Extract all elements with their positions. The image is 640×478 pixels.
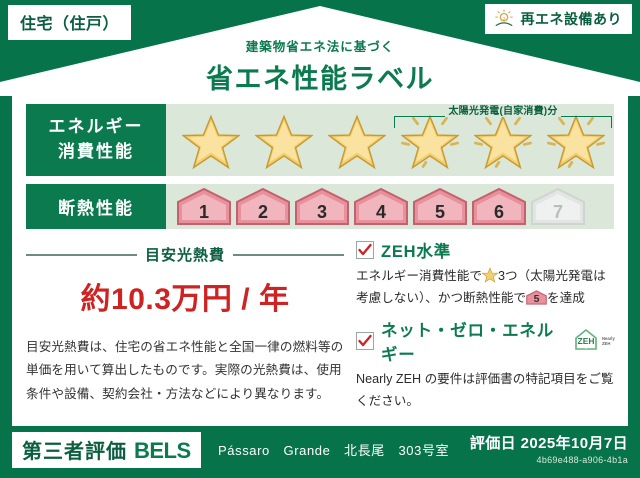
insulation-level-5: 5 (412, 187, 468, 226)
label-header: 住宅（住戸） э 再エネ設備あり 建築物省エネ法に基づく 省エネ性能ラベル (0, 0, 640, 96)
star-icon (176, 110, 246, 172)
insulation-performance-row: 断熱性能 1 2 3 4 (26, 184, 614, 229)
svg-text:ZEH: ZEH (578, 336, 595, 346)
svg-text:э: э (502, 16, 505, 22)
zeh-standard-block: ZEH水準 エネルギー消費性能で3つ（太陽光発電は考慮しない）、かつ断熱性能で5… (356, 238, 618, 309)
sun-icon: э (493, 8, 515, 30)
evaluation-date: 評価日 2025年10月7日 (470, 432, 628, 453)
zeh-standard-header: ZEH水準 (356, 238, 618, 262)
insulation-level-2: 2 (235, 187, 291, 226)
check-icon (358, 243, 372, 257)
net-zero-header: ネット・ゼロ・エネルギー ZEH Nearly ZEH (356, 317, 618, 365)
label-footer: 第三者評価 BELS Pássaro Grande 北長尾 303号室 評価日 … (0, 426, 640, 478)
zeh-logo-icon: ZEH Nearly ZEH (572, 327, 618, 356)
utility-cost-heading-label: 目安光熱費 (145, 244, 225, 265)
evaluation-id: 4b69e488-a906-4b1a (470, 455, 628, 465)
renewable-energy-badge: э 再エネ設備あり (485, 4, 633, 34)
insulation-level-7: 7 (530, 187, 586, 226)
zeh-standard-body: エネルギー消費性能で3つ（太陽光発電は考慮しない）、かつ断熱性能で5を達成 (356, 266, 618, 309)
insulation-level-4: 4 (353, 187, 409, 226)
building-name: Pássaro Grande 北長尾 303号室 (218, 440, 449, 459)
heading-rule-left (26, 254, 137, 256)
svg-text:ZEH: ZEH (602, 341, 610, 346)
solar-bracket (394, 116, 612, 128)
insulation-performance-label: 断熱性能 (26, 184, 166, 229)
net-zero-body: Nearly ZEH の要件は評価書の特記項目をご覧ください。 (356, 369, 618, 412)
utility-cost-note: 目安光熱費は、住宅の省エネ性能と全国一律の燃料等の単価を用いて算出したものです。… (26, 336, 344, 406)
energy-performance-row: エネルギー 消費性能 太陽光発電(自家消費)分 (26, 104, 614, 176)
energy-performance-label: エネルギー 消費性能 (26, 104, 166, 176)
net-zero-block: ネット・ゼロ・エネルギー ZEH Nearly ZEH Nearly ZEH の… (356, 317, 618, 412)
page-title: 省エネ性能ラベル (0, 57, 640, 96)
solar-bracket-label-wrap: 太陽光発電(自家消費)分 (394, 102, 612, 117)
star-icon (249, 110, 319, 172)
insulation-level-6: 6 (471, 187, 527, 226)
zeh-standard-title: ZEH水準 (381, 238, 451, 262)
star-icon-inline (482, 267, 498, 283)
insulation-performance-value: 1 2 3 4 5 (166, 184, 614, 229)
utility-cost-value: 約10.3万円 / 年 (26, 274, 344, 318)
bels-logo-en: BELS (134, 438, 191, 464)
star-icon (322, 110, 392, 172)
insulation-badge-inline-value: 5 (526, 290, 547, 308)
utility-cost-heading: 目安光熱費 (26, 244, 344, 265)
building-type-badge: 住宅（住戸） (8, 5, 131, 40)
utility-cost-column: 目安光熱費 約10.3万円 / 年 目安光熱費は、住宅の省エネ性能と全国一律の燃… (26, 238, 344, 406)
insulation-level-3: 3 (294, 187, 350, 226)
check-icon (358, 334, 372, 348)
net-zero-checkbox[interactable] (356, 332, 374, 350)
label-lower-section: 目安光熱費 約10.3万円 / 年 目安光熱費は、住宅の省エネ性能と全国一律の燃… (12, 238, 628, 426)
heading-rule-right (233, 254, 344, 256)
zeh-standard-checkbox[interactable] (356, 241, 374, 259)
bels-logo: 第三者評価 BELS (12, 432, 201, 468)
zeh-column: ZEH水準 エネルギー消費性能で3つ（太陽光発電は考慮しない）、かつ断熱性能で5… (356, 238, 618, 421)
zeh-standard-body-part1: エネルギー消費性能で (356, 269, 482, 283)
insulation-badge-inline: 5 (526, 289, 547, 306)
evaluation-info: 評価日 2025年10月7日 4b69e488-a906-4b1a (470, 432, 628, 465)
net-zero-title: ネット・ゼロ・エネルギー (381, 317, 563, 365)
bels-logo-jp: 第三者評価 (22, 435, 127, 464)
label-card: エネルギー 消費性能 太陽光発電(自家消費)分 (12, 96, 628, 426)
renewable-badge-label: 再エネ設備あり (521, 9, 623, 29)
energy-performance-value: 太陽光発電(自家消費)分 (166, 104, 614, 176)
insulation-level-scale: 1 2 3 4 5 (176, 187, 586, 226)
zeh-standard-body-part3: を達成 (547, 291, 585, 305)
insulation-level-1: 1 (176, 187, 232, 226)
label-title-block: 建築物省エネ法に基づく 省エネ性能ラベル (0, 36, 640, 96)
solar-bracket-label: 太陽光発電(自家消費)分 (445, 106, 560, 117)
